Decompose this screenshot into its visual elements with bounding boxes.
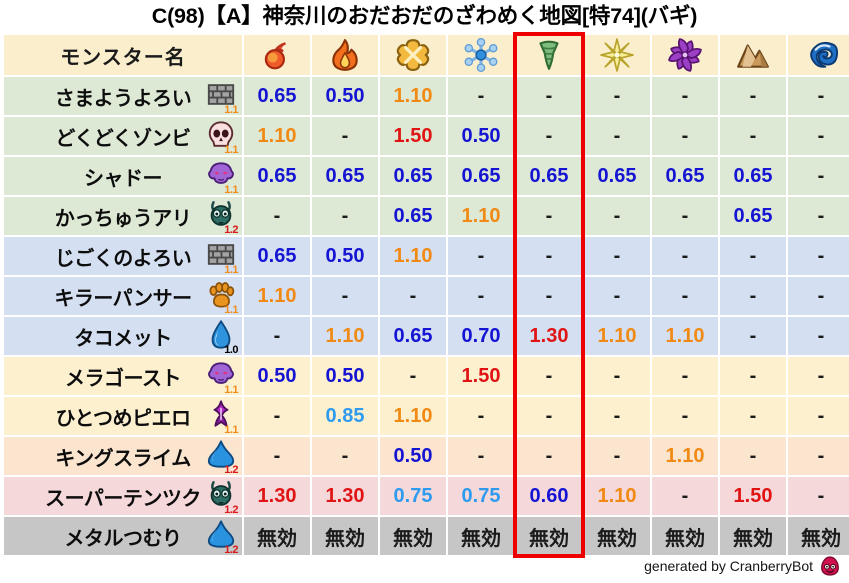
column-header-explosion[interactable] bbox=[380, 35, 446, 75]
resistance-cell: - bbox=[448, 437, 514, 475]
resistance-cell: 無効 bbox=[584, 517, 650, 555]
table-row: キングスライム1.2--0.50---1.10-- bbox=[4, 437, 849, 475]
footer-credit: generated by CranberryBot bbox=[644, 555, 841, 577]
resistance-cell: 0.65 bbox=[244, 77, 310, 115]
monster-version-badge: 1.2 bbox=[224, 225, 238, 236]
resistance-cell: - bbox=[312, 117, 378, 155]
resistance-cell: - bbox=[788, 317, 849, 355]
resistance-cell: - bbox=[380, 277, 446, 315]
resistance-cell: - bbox=[720, 77, 786, 115]
resistance-cell: - bbox=[652, 357, 718, 395]
resistance-cell: 0.85 bbox=[312, 397, 378, 435]
monster-version-badge: 1.2 bbox=[224, 465, 238, 476]
resistance-cell: 0.65 bbox=[720, 157, 786, 195]
monster-version-badge: 1.1 bbox=[224, 185, 238, 196]
monster-name-label: タコメット bbox=[74, 322, 172, 351]
resistance-cell: 1.10 bbox=[652, 437, 718, 475]
resistance-cell: - bbox=[380, 357, 446, 395]
resistance-cell: 無効 bbox=[448, 517, 514, 555]
resistance-cell: 無効 bbox=[720, 517, 786, 555]
cranberry-slime-icon bbox=[819, 555, 841, 577]
resistance-cell: - bbox=[516, 437, 582, 475]
monster-version-badge: 1.1 bbox=[224, 265, 238, 276]
table-row: メタルつむり1.2無効無効無効無効無効無効無効無効無効 bbox=[4, 517, 849, 555]
monster-name-cell[interactable]: かっちゅうアリ1.2 bbox=[4, 197, 242, 235]
resistance-cell: 0.65 bbox=[380, 317, 446, 355]
resistance-cell: 1.10 bbox=[380, 237, 446, 275]
monster-name-cell[interactable]: じごくのよろい1.1 bbox=[4, 237, 242, 275]
resistance-cell: - bbox=[516, 117, 582, 155]
resistance-cell: - bbox=[788, 397, 849, 435]
resistance-cell: - bbox=[312, 277, 378, 315]
resistance-cell: - bbox=[584, 397, 650, 435]
water-wave-icon bbox=[804, 38, 838, 72]
tornado-wind-icon bbox=[532, 38, 566, 72]
monster-version-badge: 1.1 bbox=[224, 425, 238, 436]
resistance-cell: - bbox=[652, 197, 718, 235]
table-row: かっちゅうアリ1.2--0.651.10---0.65- bbox=[4, 197, 849, 235]
resistance-cell: - bbox=[720, 357, 786, 395]
resistance-cell: 1.30 bbox=[244, 477, 310, 515]
resistance-cell: - bbox=[652, 477, 718, 515]
resistance-cell: - bbox=[788, 237, 849, 275]
table-row: タコメット1.0-1.100.650.701.301.101.10-- bbox=[4, 317, 849, 355]
column-header-water-wave[interactable] bbox=[788, 35, 849, 75]
monster-version-badge: 1.1 bbox=[224, 305, 238, 316]
resistance-cell: 0.60 bbox=[516, 477, 582, 515]
resistance-cell: - bbox=[788, 77, 849, 115]
resistance-cell: 無効 bbox=[652, 517, 718, 555]
resistance-cell: - bbox=[516, 197, 582, 235]
column-header-mountain-earth[interactable] bbox=[720, 35, 786, 75]
monster-name-cell[interactable]: どくどくゾンビ1.1 bbox=[4, 117, 242, 155]
resistance-cell: - bbox=[516, 77, 582, 115]
resistance-cell: 0.50 bbox=[312, 77, 378, 115]
monster-name-label: どくどくゾンビ bbox=[55, 122, 190, 151]
monster-version-badge: 1.1 bbox=[224, 385, 238, 396]
resistance-cell: - bbox=[516, 397, 582, 435]
resistance-cell: - bbox=[652, 237, 718, 275]
resistance-cell: 0.70 bbox=[448, 317, 514, 355]
meteor-fire-icon bbox=[260, 38, 294, 72]
page-title: C(98)【A】神奈川のおだおだのざわめく地図[特74](バギ) bbox=[0, 0, 849, 33]
resistance-cell: - bbox=[584, 77, 650, 115]
resistance-table: モンスター名 さまようよろい1.10.650.501.10------どくどくゾ… bbox=[2, 33, 849, 557]
resistance-cell: 1.10 bbox=[584, 477, 650, 515]
resistance-cell: 1.50 bbox=[720, 477, 786, 515]
resistance-cell: - bbox=[788, 197, 849, 235]
column-header-ice-crystal[interactable] bbox=[448, 35, 514, 75]
resistance-cell: - bbox=[516, 357, 582, 395]
flame-icon bbox=[328, 38, 362, 72]
resistance-cell: - bbox=[652, 77, 718, 115]
resistance-cell: 0.65 bbox=[720, 197, 786, 235]
table-row: じごくのよろい1.10.650.501.10------ bbox=[4, 237, 849, 275]
monster-version-badge: 1.1 bbox=[224, 105, 238, 116]
monster-name-label: さまようよろい bbox=[55, 82, 192, 111]
resistance-cell: 0.50 bbox=[312, 357, 378, 395]
resistance-cell: - bbox=[788, 157, 849, 195]
column-header-tornado-wind[interactable] bbox=[516, 35, 582, 75]
monster-version-badge: 1.1 bbox=[224, 145, 238, 156]
resistance-cell: - bbox=[448, 397, 514, 435]
resistance-cell: - bbox=[720, 237, 786, 275]
table-row: スーパーテンツク1.21.301.300.750.750.601.10-1.50… bbox=[4, 477, 849, 515]
monster-name-label: キラーパンサー bbox=[54, 282, 191, 311]
resistance-cell: 1.10 bbox=[312, 317, 378, 355]
explosion-icon bbox=[396, 38, 430, 72]
resistance-cell: - bbox=[584, 437, 650, 475]
resistance-cell: 0.75 bbox=[380, 477, 446, 515]
monster-name-label: メラゴースト bbox=[65, 362, 181, 391]
ice-crystal-icon bbox=[464, 38, 498, 72]
resistance-cell: 無効 bbox=[312, 517, 378, 555]
resistance-cell: 0.75 bbox=[448, 477, 514, 515]
footer-text: generated by CranberryBot bbox=[644, 558, 813, 574]
resistance-cell: 1.10 bbox=[652, 317, 718, 355]
monster-name-cell[interactable]: シャドー1.1 bbox=[4, 157, 242, 195]
monster-name-label: シャドー bbox=[84, 162, 162, 191]
resistance-cell: - bbox=[720, 117, 786, 155]
monster-name-cell[interactable]: さまようよろい1.1 bbox=[4, 77, 242, 115]
table-row: メラゴースト1.10.500.50-1.50----- bbox=[4, 357, 849, 395]
resistance-cell: 0.50 bbox=[312, 237, 378, 275]
table-row: ひとつめピエロ1.1-0.851.10------ bbox=[4, 397, 849, 435]
resistance-cell: 0.50 bbox=[244, 357, 310, 395]
table-row: シャドー1.10.650.650.650.650.650.650.650.65- bbox=[4, 157, 849, 195]
resistance-cell: - bbox=[720, 277, 786, 315]
dark-vortex-icon bbox=[668, 38, 702, 72]
monster-name-label: キングスライム bbox=[55, 442, 191, 471]
resistance-cell: 1.30 bbox=[312, 477, 378, 515]
monster-version-badge: 1.2 bbox=[224, 545, 238, 556]
column-header-monster-name: モンスター名 bbox=[4, 35, 242, 75]
table-row: キラーパンサー1.11.10-------- bbox=[4, 277, 849, 315]
monster-name-cell[interactable]: メタルつむり1.2 bbox=[4, 517, 242, 555]
resistance-cell: - bbox=[516, 277, 582, 315]
table-row: さまようよろい1.10.650.501.10------ bbox=[4, 77, 849, 115]
resistance-cell: 1.10 bbox=[380, 77, 446, 115]
resistance-cell: 0.65 bbox=[584, 157, 650, 195]
resistance-cell: 0.65 bbox=[380, 157, 446, 195]
monster-version-badge: 1.2 bbox=[224, 505, 238, 516]
monster-name-label: ひとつめピエロ bbox=[55, 402, 190, 431]
monster-name-cell[interactable]: キラーパンサー1.1 bbox=[4, 277, 242, 315]
light-star-icon bbox=[600, 38, 634, 72]
resistance-cell: - bbox=[652, 277, 718, 315]
table-row: どくどくゾンビ1.11.10-1.500.50----- bbox=[4, 117, 849, 155]
resistance-cell: - bbox=[652, 397, 718, 435]
resistance-cell: - bbox=[244, 197, 310, 235]
resistance-cell: 1.10 bbox=[244, 277, 310, 315]
resistance-cell: 0.65 bbox=[516, 157, 582, 195]
monster-name-label: スーパーテンツク bbox=[45, 482, 201, 511]
resistance-cell: - bbox=[448, 237, 514, 275]
resistance-cell: - bbox=[312, 437, 378, 475]
resistance-cell: - bbox=[720, 317, 786, 355]
resistance-cell: 1.10 bbox=[448, 197, 514, 235]
resistance-cell: - bbox=[584, 117, 650, 155]
resistance-cell: 0.65 bbox=[380, 197, 446, 235]
resistance-cell: - bbox=[584, 237, 650, 275]
resistance-cell: 0.65 bbox=[312, 157, 378, 195]
mountain-earth-icon bbox=[736, 38, 770, 72]
monster-name-label: メタルつむり bbox=[65, 522, 182, 551]
monster-name-label: かっちゅうアリ bbox=[55, 202, 192, 231]
resistance-cell: - bbox=[788, 477, 849, 515]
resistance-cell: 0.50 bbox=[380, 437, 446, 475]
resistance-grid: モンスター名 さまようよろい1.10.650.501.10------どくどくゾ… bbox=[0, 33, 849, 557]
resistance-cell: 1.50 bbox=[380, 117, 446, 155]
column-header-meteor-fire[interactable] bbox=[244, 35, 310, 75]
column-header-flame[interactable] bbox=[312, 35, 378, 75]
column-header-dark-vortex[interactable] bbox=[652, 35, 718, 75]
resistance-cell: 1.30 bbox=[516, 317, 582, 355]
resistance-cell: 無効 bbox=[380, 517, 446, 555]
resistance-cell: 無効 bbox=[244, 517, 310, 555]
resistance-cell: - bbox=[448, 77, 514, 115]
resistance-cell: - bbox=[788, 357, 849, 395]
resistance-cell: 0.65 bbox=[244, 237, 310, 275]
resistance-cell: 0.65 bbox=[652, 157, 718, 195]
table-body: さまようよろい1.10.650.501.10------どくどくゾンビ1.11.… bbox=[4, 77, 849, 555]
resistance-cell: - bbox=[788, 117, 849, 155]
resistance-cell: - bbox=[788, 277, 849, 315]
table-header: モンスター名 bbox=[4, 35, 849, 75]
resistance-cell: - bbox=[312, 197, 378, 235]
resistance-cell: - bbox=[720, 397, 786, 435]
resistance-cell: - bbox=[244, 317, 310, 355]
resistance-cell: - bbox=[720, 437, 786, 475]
resistance-cell: 1.10 bbox=[244, 117, 310, 155]
resistance-cell: - bbox=[244, 437, 310, 475]
monster-version-badge: 1.0 bbox=[224, 345, 238, 356]
monster-name-cell[interactable]: キングスライム1.2 bbox=[4, 437, 242, 475]
monster-name-cell[interactable]: ひとつめピエロ1.1 bbox=[4, 397, 242, 435]
resistance-cell: - bbox=[584, 197, 650, 235]
resistance-cell: 0.50 bbox=[448, 117, 514, 155]
resistance-cell: 0.65 bbox=[448, 157, 514, 195]
monster-name-cell[interactable]: タコメット1.0 bbox=[4, 317, 242, 355]
resistance-cell: - bbox=[788, 437, 849, 475]
resistance-cell: - bbox=[244, 397, 310, 435]
monster-name-cell[interactable]: スーパーテンツク1.2 bbox=[4, 477, 242, 515]
resistance-cell: - bbox=[584, 357, 650, 395]
monster-name-label: じごくのよろい bbox=[55, 242, 192, 271]
header-row: モンスター名 bbox=[4, 35, 849, 75]
monster-name-cell[interactable]: メラゴースト1.1 bbox=[4, 357, 242, 395]
resistance-cell: 無効 bbox=[788, 517, 849, 555]
resistance-cell: - bbox=[652, 117, 718, 155]
resistance-cell: - bbox=[584, 277, 650, 315]
resistance-cell: 1.10 bbox=[584, 317, 650, 355]
resistance-cell: - bbox=[448, 277, 514, 315]
resistance-cell: 無効 bbox=[516, 517, 582, 555]
resistance-cell: 1.10 bbox=[380, 397, 446, 435]
resistance-cell: 1.50 bbox=[448, 357, 514, 395]
column-header-light-star[interactable] bbox=[584, 35, 650, 75]
resistance-cell: - bbox=[516, 237, 582, 275]
resistance-cell: 0.65 bbox=[244, 157, 310, 195]
